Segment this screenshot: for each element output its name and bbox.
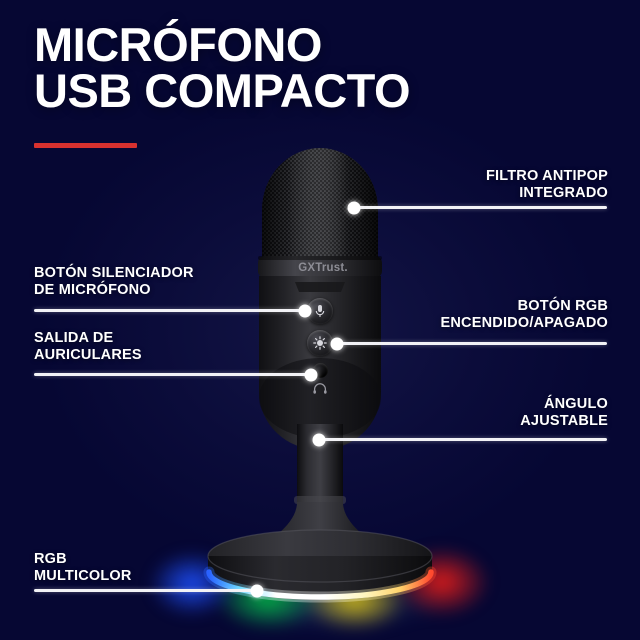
callout-angulo-ajustable: ÁNGULO AJUSTABLE: [400, 396, 608, 430]
connector-dot-filtro-antipop: [348, 201, 361, 214]
connector-line-salida-auriculares: [34, 373, 310, 376]
callout-boton-silenciador: BOTÓN SILENCIADOR DE MICRÓFONO: [34, 265, 274, 299]
rgb-button[interactable]: [307, 330, 333, 356]
connector-dot-boton-rgb: [331, 337, 344, 350]
callout-label: BOTÓN RGB ENCENDIDO/APAGADO: [358, 298, 608, 332]
callout-boton-rgb: BOTÓN RGB ENCENDIDO/APAGADO: [358, 298, 608, 332]
callout-rgb-multicolor: RGB MULTICOLOR: [34, 551, 234, 585]
infographic-canvas: MICRÓFONO USB COMPACTO: [0, 0, 640, 640]
callout-salida-auriculares: SALIDA DE AURICULARES: [34, 330, 264, 364]
microphone-icon: [314, 304, 326, 318]
connector-line-boton-silenciador: [34, 309, 304, 312]
callout-filtro-antipop: FILTRO ANTIPOP INTEGRADO: [400, 168, 608, 202]
connector-dot-boton-silenciador: [299, 304, 312, 317]
connector-dot-angulo-ajustable: [313, 433, 326, 446]
connector-dot-rgb-multicolor: [251, 584, 264, 597]
callout-label: SALIDA DE AURICULARES: [34, 330, 264, 364]
connector-line-boton-rgb: [336, 342, 607, 345]
callout-label: RGB MULTICOLOR: [34, 551, 234, 585]
callout-label: ÁNGULO AJUSTABLE: [400, 396, 608, 430]
rgb-sun-icon: [313, 336, 327, 350]
connector-line-filtro-antipop: [353, 206, 607, 209]
headphone-icon: [313, 383, 327, 394]
connector-line-angulo-ajustable: [318, 438, 607, 441]
callout-label: FILTRO ANTIPOP INTEGRADO: [400, 168, 608, 202]
connector-line-rgb-multicolor: [34, 589, 258, 592]
brand-logo: GXTrust.: [290, 262, 356, 274]
connector-dot-salida-auriculares: [305, 368, 318, 381]
callout-label: BOTÓN SILENCIADOR DE MICRÓFONO: [34, 265, 274, 299]
